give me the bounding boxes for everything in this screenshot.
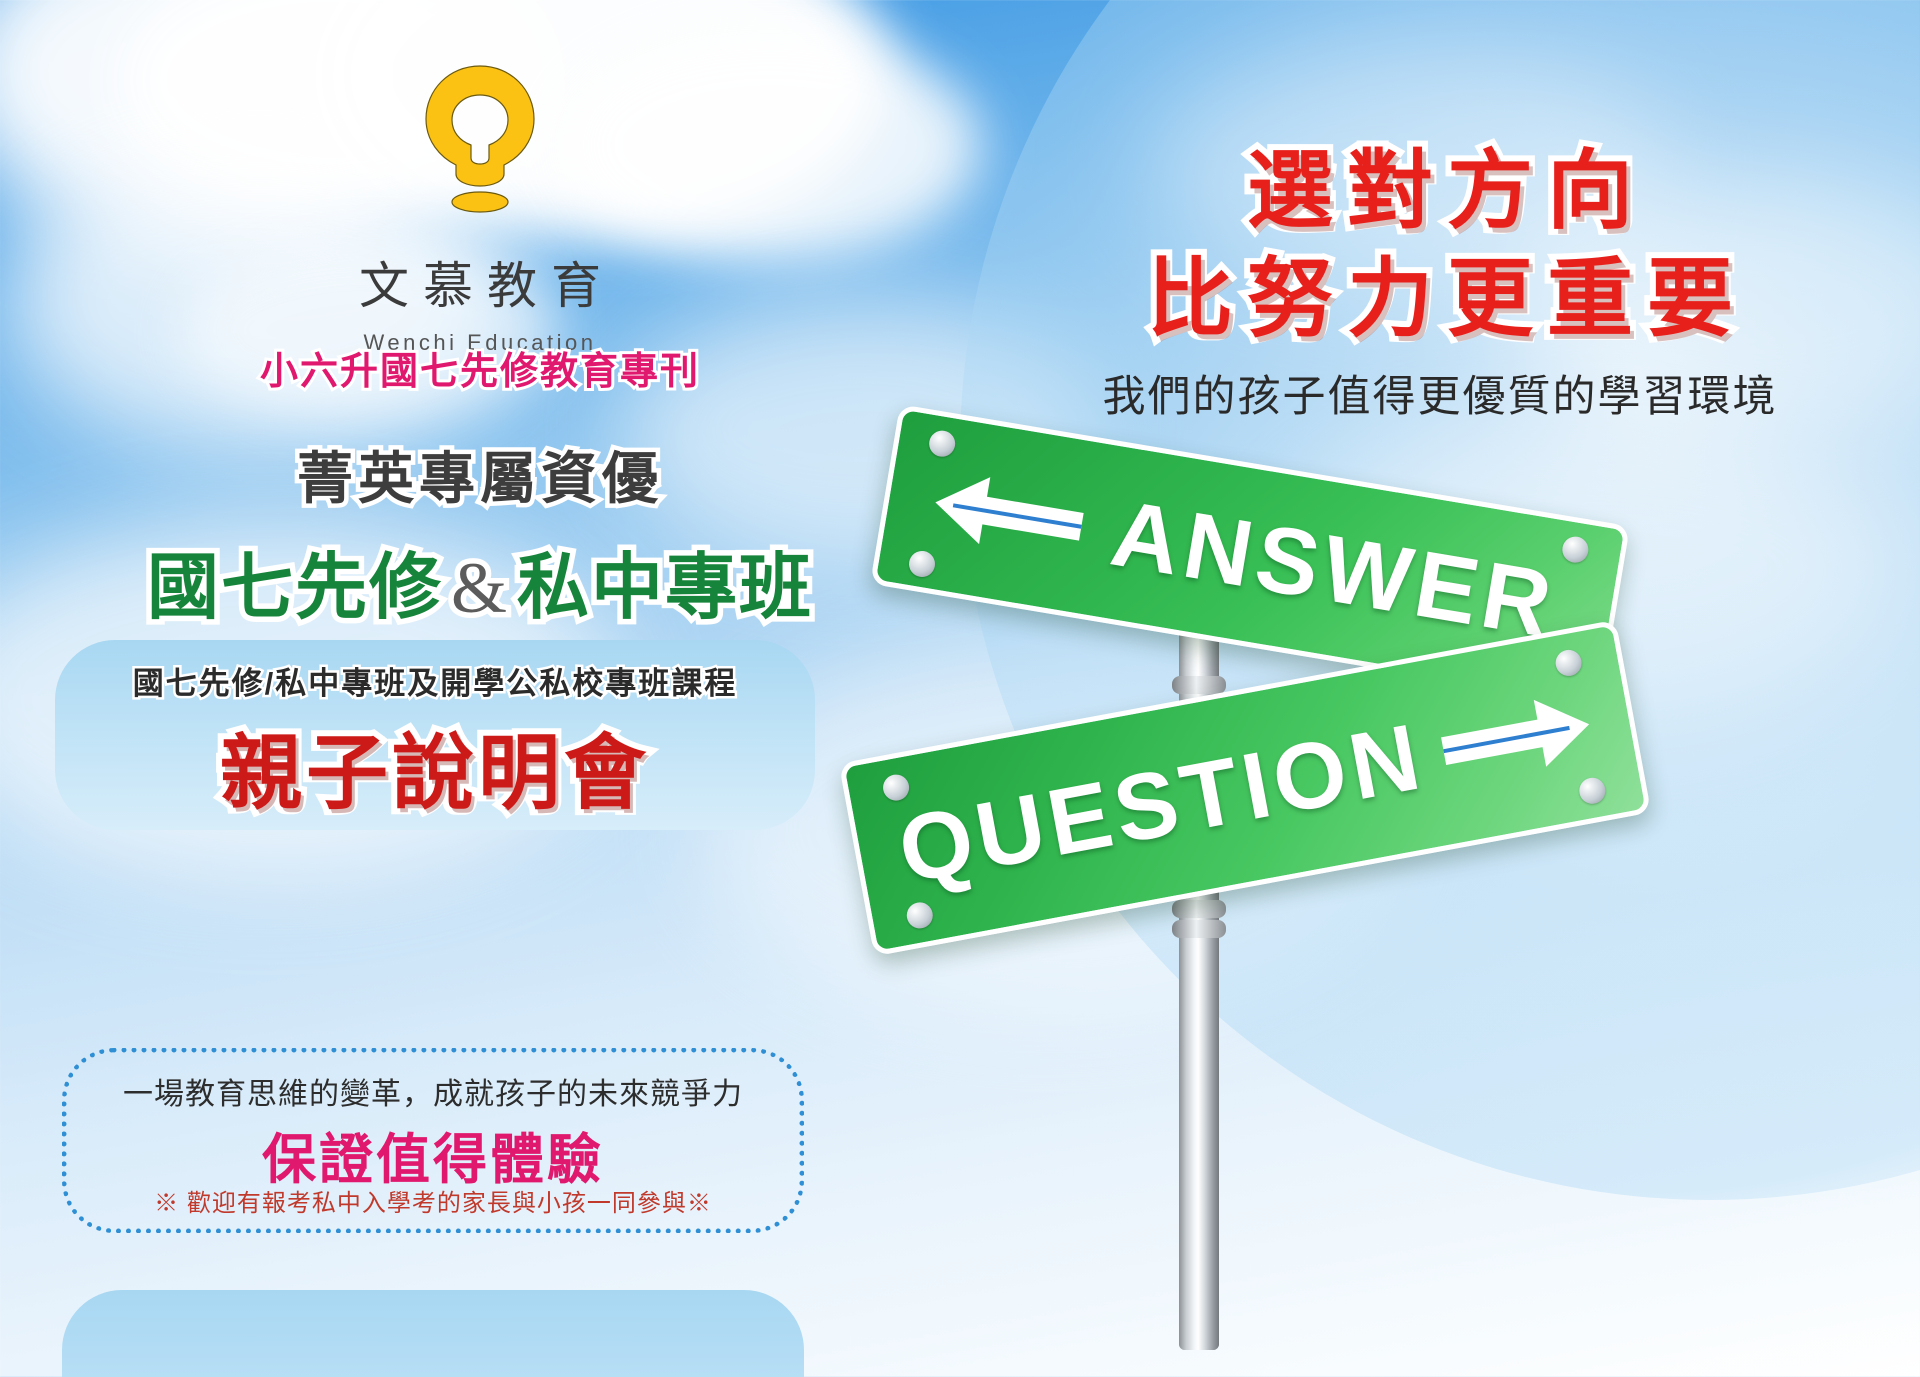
signpost-pole-ring-bottom: [1172, 920, 1226, 938]
ampersand: &: [443, 548, 517, 628]
left-content-column: 文慕教育 Wenchi Education 小六升國七先修教育專刊 菁英專屬資優…: [0, 0, 960, 1377]
seminar-subtitle: 國七先修/私中專班及開學公私校專班課程: [55, 658, 815, 703]
headline-elite: 菁英專屬資優: [0, 434, 960, 515]
signpost-pole-lower: [1179, 990, 1219, 1350]
bottom-blue-panel: [62, 1290, 804, 1377]
seminar-panel: 國七先修/私中專班及開學公私校專班課程 親子說明會: [55, 640, 815, 830]
sign-question-label: QUESTION: [852, 664, 1639, 912]
brand-name-chinese: 文慕教育: [0, 246, 960, 318]
signpost-pole-ring-upper: [1172, 676, 1226, 694]
slogan-line-2: 比努力更重要: [960, 228, 1920, 353]
sign-answer-label: ANSWER: [881, 441, 1619, 668]
headline-program-2: 私中專班: [517, 548, 813, 628]
sign-question[interactable]: QUESTION: [839, 620, 1651, 957]
guarantee-line-3: ※ 歡迎有報考私中入學考的家長與小孩一同參與※: [67, 1183, 799, 1218]
headline-program-1: 國七先修: [147, 548, 443, 628]
guarantee-panel: 一場教育思維的變革，成就孩子的未來競爭力 保證值得體驗 ※ 歡迎有報考私中入學考…: [62, 1048, 804, 1233]
signpost-pole-ring-lower: [1172, 900, 1226, 918]
guarantee-line-1: 一場教育思維的變革，成就孩子的未來競爭力: [67, 1069, 799, 1113]
slogan-subtitle: 我們的孩子值得更優質的學習環境: [960, 362, 1920, 424]
pink-band-text: 小六升國七先修教育專刊: [0, 340, 960, 395]
headline-programs: 國七先修&私中專班: [0, 528, 960, 633]
right-content-column: 選對方向 比努力更重要 我們的孩子值得更優質的學習環境 ANSWER QUEST…: [960, 0, 1920, 1377]
seminar-title: 親子說明會: [55, 706, 815, 825]
lightbulb-logo-icon: [415, 62, 545, 222]
brand-logo-block: 文慕教育 Wenchi Education: [0, 62, 960, 356]
signpost-graphic: ANSWER QUESTION: [960, 430, 1920, 1377]
slogan-line-1: 選對方向: [960, 120, 1920, 245]
